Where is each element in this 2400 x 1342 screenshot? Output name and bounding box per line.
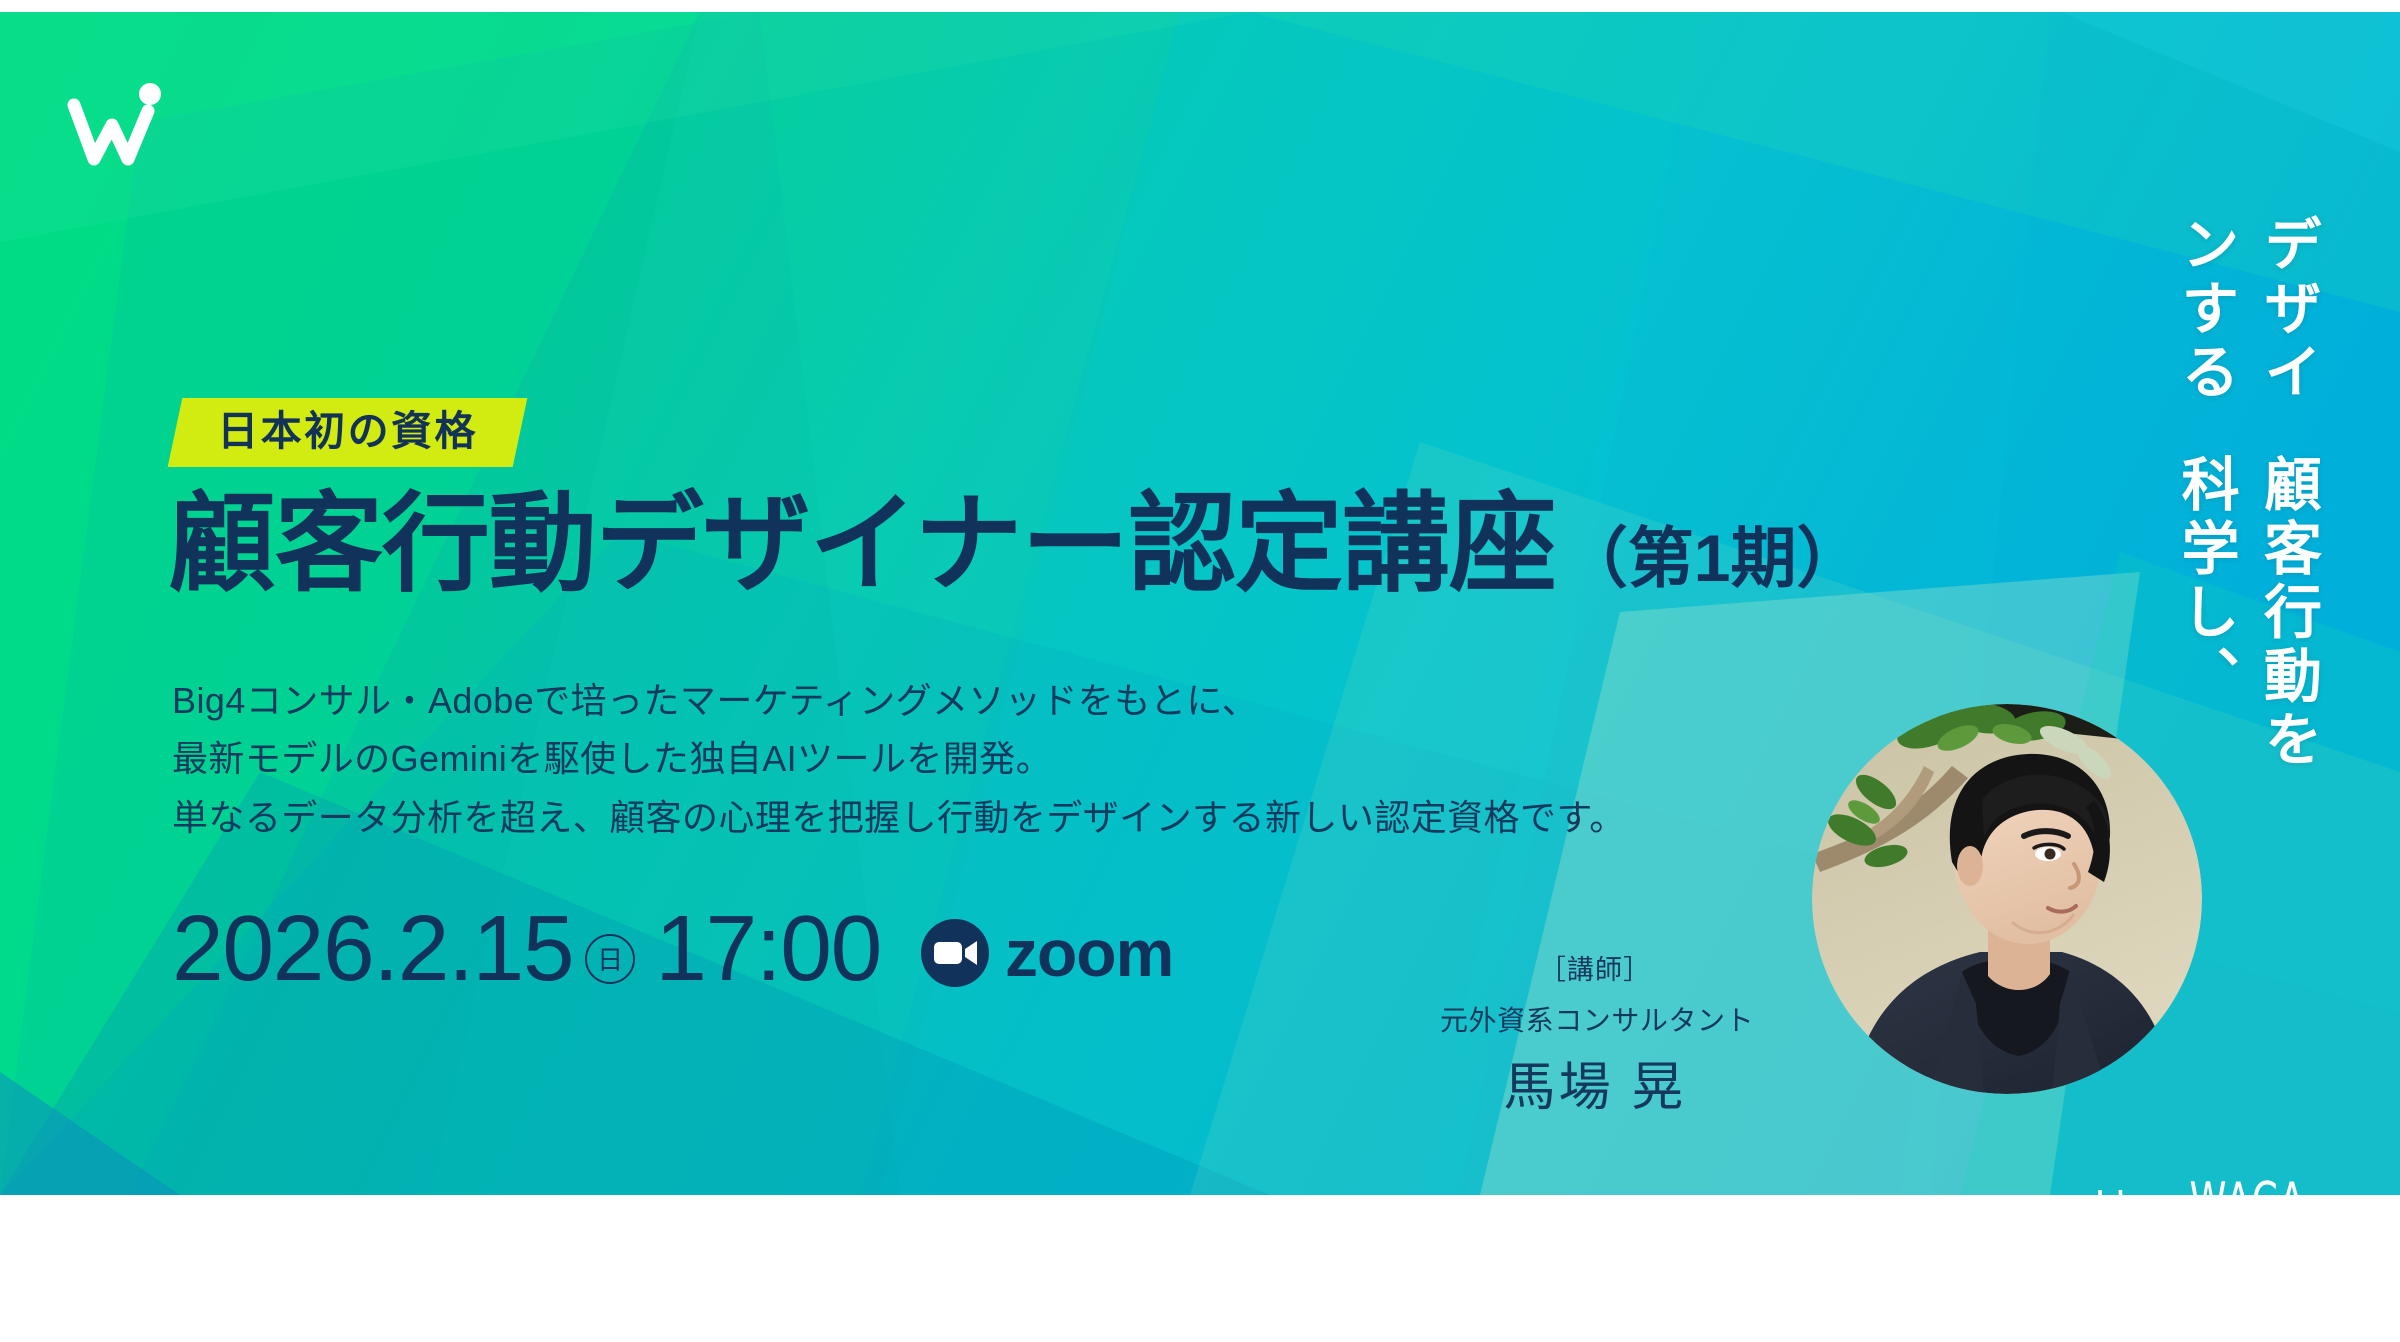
speaker-info: ［講師］ 元外資系コンサルタント 馬場 晃 <box>1440 954 1750 1120</box>
event-datetime: 2026.2.15 日 17:00 zoom <box>172 902 1173 995</box>
speaker-company: 元外資系コンサルタント <box>1440 999 1750 1039</box>
zoom-camera-icon <box>919 917 991 989</box>
speaker-avatar <box>1812 704 2202 1094</box>
first-in-japan-badge: 日本初の資格 <box>168 398 527 467</box>
catchcopy-line-1: 顧客行動を科学し、 <box>2163 454 2328 814</box>
lead-paragraph: Big4コンサル・Adobeで培ったマーケティングメソッドをもとに、 最新モデル… <box>172 672 1626 847</box>
vertical-catchcopy: デザインする 顧客行動を科学し、 <box>2163 214 2328 814</box>
banner-root: 日本初の資格 顧客行動デザイナー認定講座（第1期） Big4コンサル・Adobe… <box>0 0 2400 1342</box>
catchcopy-line-2: デザインする <box>2163 214 2328 454</box>
speaker-role-label: ［講師］ <box>1440 954 1750 986</box>
event-day-of-week: 日 <box>585 934 635 984</box>
banner-content: 日本初の資格 顧客行動デザイナー認定講座（第1期） Big4コンサル・Adobe… <box>0 24 2400 1195</box>
lead-line-1: Big4コンサル・Adobeで培ったマーケティングメソッドをもとに、 <box>172 672 1626 730</box>
speaker-name: 馬場 晃 <box>1440 1045 1750 1120</box>
lead-line-3: 単なるデータ分析を超え、顧客の心理を把握し行動をデザインする新しい認定資格です。 <box>172 789 1626 847</box>
event-date: 2026.2.15 <box>172 902 573 995</box>
waca-wordmark: WACA <box>2189 1172 2305 1195</box>
badge-label: 日本初の資格 <box>217 411 478 452</box>
title-main: 顧客行動デザイナー認定講座 <box>168 487 1556 600</box>
powered-by-label: powered by <box>1950 1184 2159 1195</box>
powered-by: powered by WACA <box>1950 1172 2320 1195</box>
zoom-logo: zoom <box>919 917 1173 989</box>
event-banner: 日本初の資格 顧客行動デザイナー認定講座（第1期） Big4コンサル・Adobe… <box>0 12 2400 1195</box>
event-time: 17:00 <box>655 902 881 995</box>
zoom-wordmark: zoom <box>1005 920 1173 986</box>
lead-line-2: 最新モデルのGeminiを駆使した独自AIツールを開発。 <box>172 730 1626 788</box>
page-title: 顧客行動デザイナー認定講座（第1期） <box>168 487 1863 600</box>
title-suffix: （第1期） <box>1562 524 1863 593</box>
